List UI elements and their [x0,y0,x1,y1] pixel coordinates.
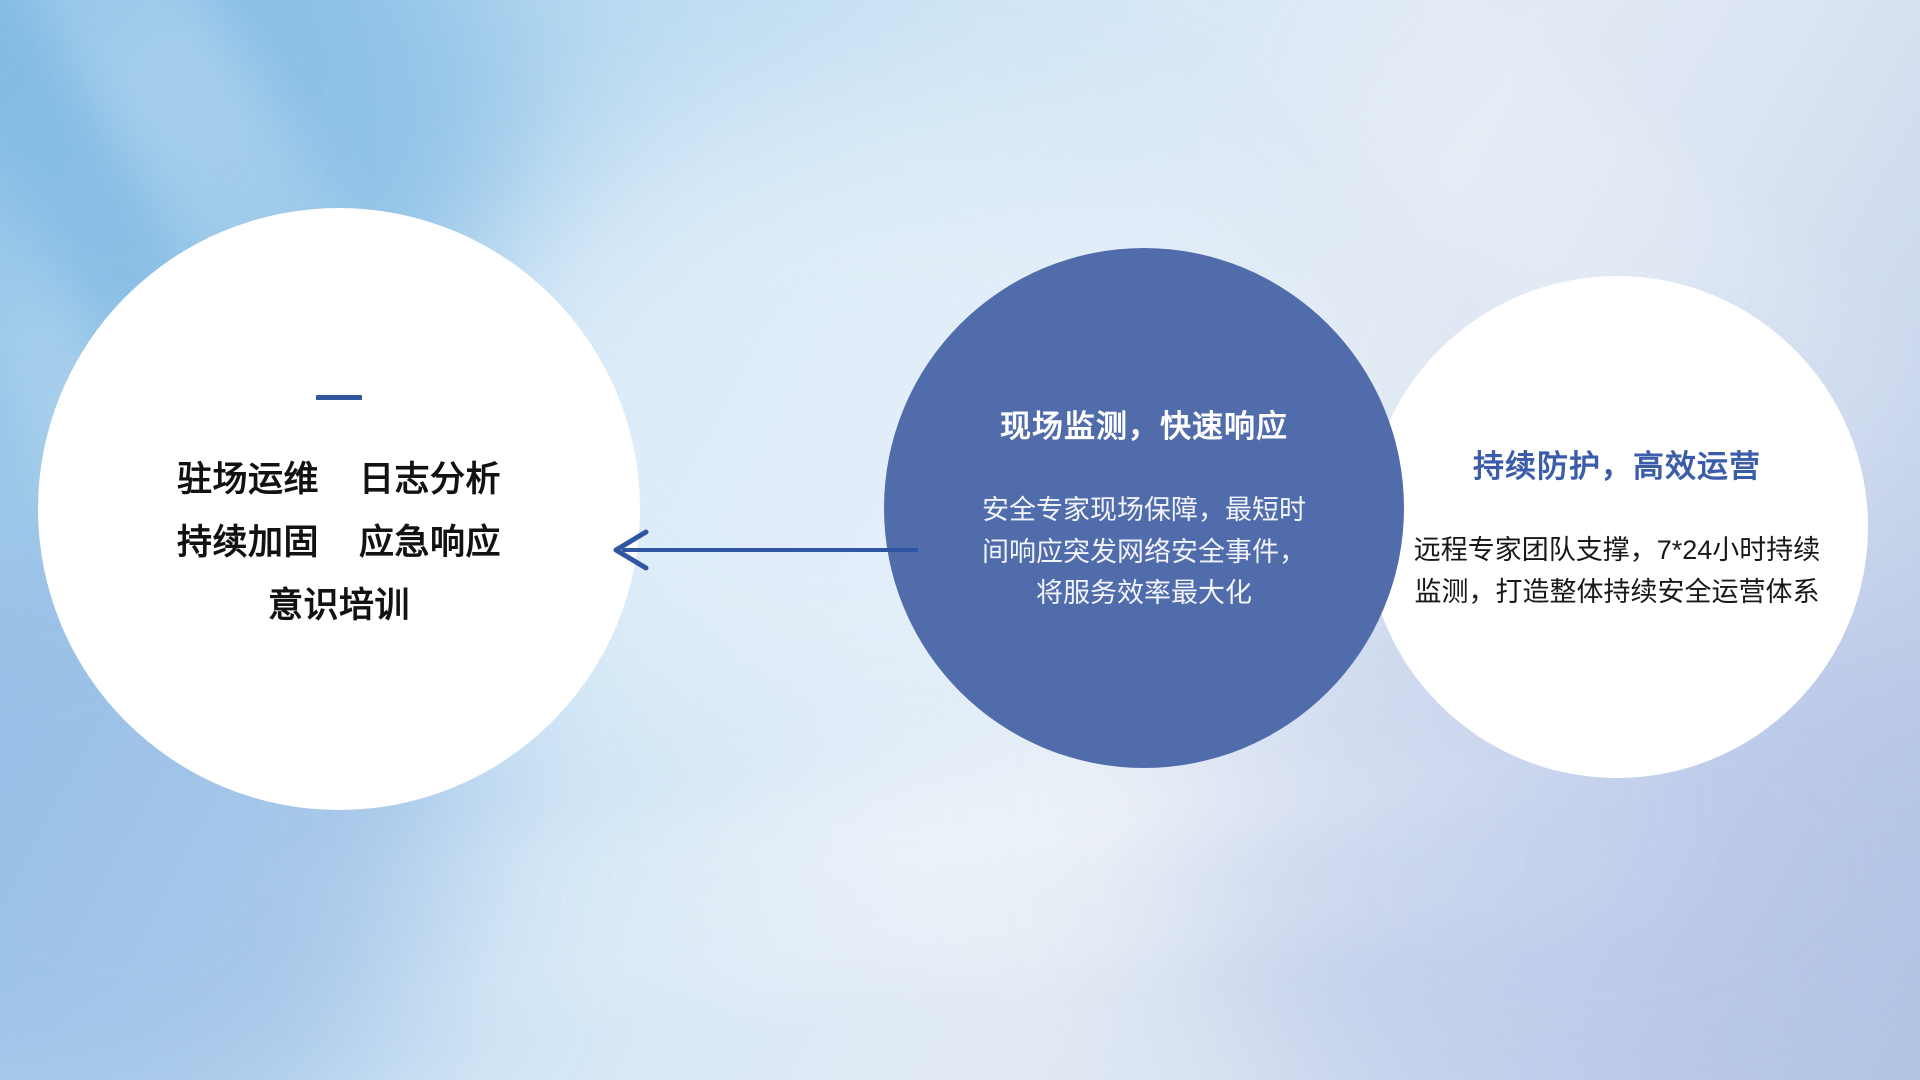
onsite-monitoring-circle: 现场监测，快速响应 安全专家现场保障，最短时间响应突发网络安全事件，将服务效率最… [884,248,1404,768]
capabilities-circle: 驻场运维 日志分析 持续加固 应急响应 意识培训 [38,208,640,810]
accent-dash-icon [316,395,362,400]
capability-item: 意识培训 [268,588,410,623]
capability-row: 意识培训 [177,588,501,623]
flow-arrow-left-icon [600,520,920,580]
capability-list: 驻场运维 日志分析 持续加固 应急响应 意识培训 [177,462,501,623]
card-body: 安全专家现场保障，最短时间响应突发网络安全事件，将服务效率最大化 [969,490,1319,616]
card-title: 持续防护，高效运营 [1473,441,1761,486]
capability-row: 驻场运维 日志分析 [177,462,501,497]
card-body: 远程专家团队支撑，7*24小时持续监测，打造整体持续安全运营体系 [1407,530,1827,614]
capability-item: 日志分析 [359,462,501,497]
capability-item: 持续加固 [177,525,319,560]
capability-item: 驻场运维 [177,462,319,497]
capability-row: 持续加固 应急响应 [177,525,501,560]
continuous-operations-circle: 持续防护，高效运营 远程专家团队支撑，7*24小时持续监测，打造整体持续安全运营… [1366,276,1868,778]
slide-canvas: 驻场运维 日志分析 持续加固 应急响应 意识培训 持续防护，高效运营 远程专家团… [0,0,1920,1080]
capability-item: 应急响应 [359,525,501,560]
card-title: 现场监测，快速响应 [1000,401,1288,446]
